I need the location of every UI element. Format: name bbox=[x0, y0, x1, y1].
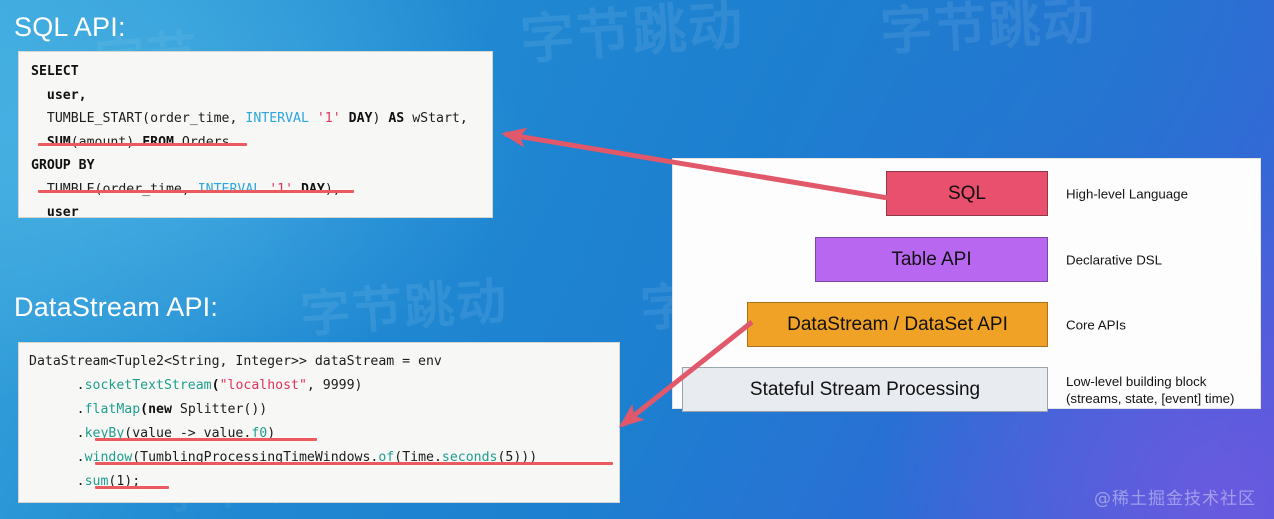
layer-description: Low-level building block (streams, state… bbox=[1066, 373, 1234, 407]
layer-description: Declarative DSL bbox=[1066, 251, 1162, 268]
code-line: SELECT bbox=[31, 60, 480, 84]
layer-description: Core APIs bbox=[1066, 316, 1126, 333]
code-line: user, bbox=[31, 84, 480, 108]
layer-box-datastream-dataset-api[interactable]: DataStream / DataSet API bbox=[747, 302, 1048, 347]
layer-box-label: Stateful Stream Processing bbox=[750, 379, 980, 401]
layer-description: High-level Language bbox=[1066, 185, 1188, 202]
layer-box-table-api[interactable]: Table API bbox=[815, 237, 1048, 282]
code-underline bbox=[38, 190, 354, 193]
code-underline bbox=[95, 438, 317, 441]
datastream-code-lines: DataStream<Tuple2<String, Integer>> data… bbox=[29, 350, 609, 494]
code-line: GROUP BY bbox=[31, 154, 480, 178]
diagram-layer-row: SQLHigh-level Language bbox=[673, 171, 1260, 216]
background-watermark: 字节跳动 bbox=[298, 261, 511, 347]
code-line: .window(TumblingProcessingTimeWindows.of… bbox=[29, 446, 609, 470]
code-line: .socketTextStream("localhost", 9999) bbox=[29, 374, 609, 398]
diagram-layer-row: DataStream / DataSet APICore APIs bbox=[673, 302, 1260, 347]
code-line: .keyBy(value -> value.f0) bbox=[29, 422, 609, 446]
code-line: TUMBLE_START(order_time, INTERVAL '1' DA… bbox=[31, 107, 480, 131]
sql-section-title: SQL API: bbox=[14, 12, 126, 43]
layer-box-sql[interactable]: SQL bbox=[886, 171, 1048, 216]
layer-box-stateful-stream-processing[interactable]: Stateful Stream Processing bbox=[682, 367, 1048, 412]
api-stack-diagram: SQLHigh-level LanguageTable APIDeclarati… bbox=[672, 158, 1261, 409]
datastream-code-panel: DataStream<Tuple2<String, Integer>> data… bbox=[18, 342, 620, 503]
code-underline bbox=[95, 486, 169, 489]
code-line: .sum(1); bbox=[29, 470, 609, 494]
diagram-layer-row: Table APIDeclarative DSL bbox=[673, 237, 1260, 282]
corner-watermark: @稀土掘金技术社区 bbox=[1094, 484, 1256, 509]
layer-box-label: SQL bbox=[948, 183, 986, 205]
slide-root: 字节跳动 字节跳动 字节 字节跳动 字节跳动 字节跳动 字节跳动 SQL API… bbox=[0, 0, 1274, 519]
background-watermark: 字节跳动 bbox=[878, 0, 1098, 65]
code-line: .flatMap(new Splitter()) bbox=[29, 398, 609, 422]
code-line: user bbox=[31, 201, 480, 225]
layer-box-label: DataStream / DataSet API bbox=[787, 314, 1008, 336]
code-underline bbox=[95, 462, 613, 465]
code-underline bbox=[38, 143, 247, 146]
datastream-section-title: DataStream API: bbox=[14, 292, 218, 323]
layer-box-label: Table API bbox=[891, 249, 971, 271]
code-line: DataStream<Tuple2<String, Integer>> data… bbox=[29, 350, 609, 374]
diagram-layer-row: Stateful Stream ProcessingLow-level buil… bbox=[673, 367, 1260, 412]
background-watermark: 字节跳动 bbox=[518, 0, 747, 75]
